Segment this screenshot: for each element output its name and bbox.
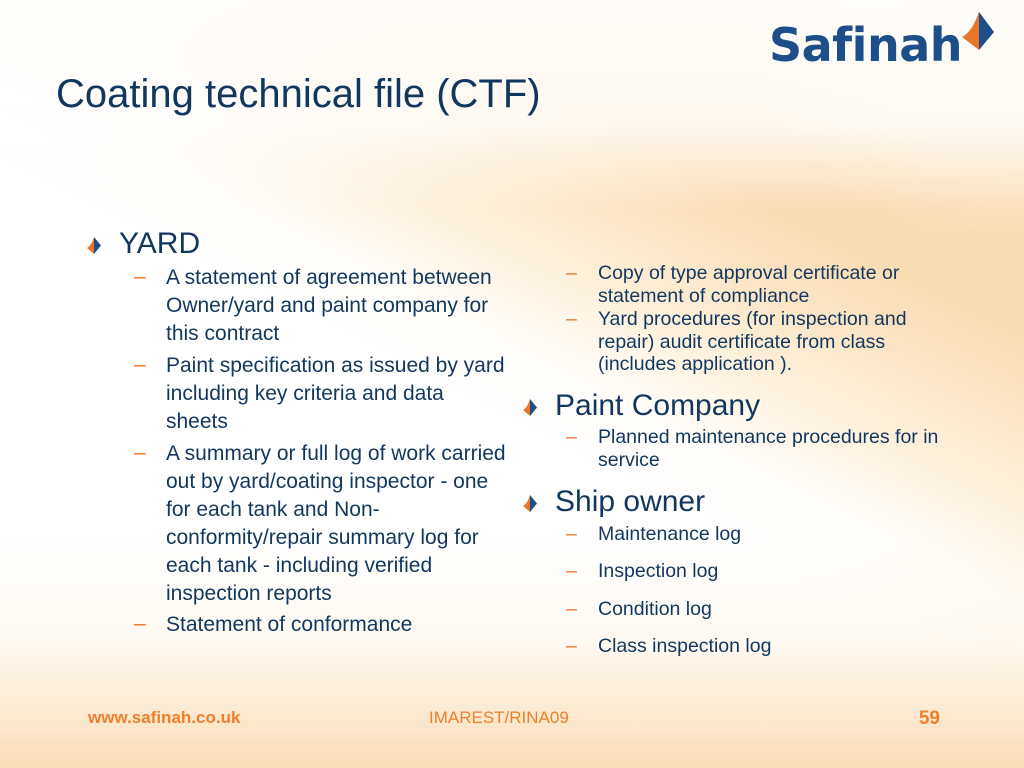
arrow-bullet-icon: [86, 237, 102, 260]
safinah-arrow-mark-icon: [956, 10, 1002, 61]
dash-bullet-icon: –: [566, 597, 582, 622]
group-yard: YARD – A statement of agreement between …: [86, 228, 506, 639]
footer-conference-label: IMAREST/RINA09: [429, 708, 569, 728]
list-item-label: Copy of type approval certificate or sta…: [598, 262, 952, 307]
group-ship-owner: Ship owner – Maintenance log – Inspectio…: [522, 486, 952, 660]
list-item: – Condition log: [566, 597, 952, 622]
list-item-label: Paint specification as issued by yard in…: [166, 352, 506, 436]
arrow-bullet-icon: [522, 399, 538, 422]
heading-yard: YARD: [86, 228, 506, 260]
list-item-label: A summary or full log of work carried ou…: [166, 440, 506, 608]
dash-bullet-icon: –: [134, 264, 150, 291]
page-title: Coating technical file (CTF): [56, 72, 541, 117]
footer-website-link[interactable]: www.safinah.co.uk: [88, 708, 240, 728]
group-paint-company: Paint Company – Planned maintenance proc…: [522, 390, 952, 472]
dash-bullet-icon: –: [566, 426, 582, 449]
safinah-logo: Safinah: [769, 22, 1002, 68]
list-item: – A summary or full log of work carried …: [134, 440, 506, 608]
list-item: – Statement of conformance: [134, 611, 506, 639]
list-item: – Maintenance log: [566, 522, 952, 547]
heading-paint-company: Paint Company: [522, 390, 952, 422]
list-item-label: Maintenance log: [598, 522, 741, 547]
slide: Safinah Coating technical file (CTF) YAR…: [0, 0, 1024, 768]
arrow-bullet-icon: [522, 495, 538, 518]
list-item: – A statement of agreement between Owner…: [134, 264, 506, 348]
dash-bullet-icon: –: [566, 308, 582, 331]
list-item-label: Class inspection log: [598, 634, 771, 659]
heading-label: Ship owner: [555, 486, 705, 518]
list-item-label: Inspection log: [598, 559, 718, 584]
list-item: – Planned maintenance procedures for in …: [566, 426, 952, 471]
group-paint-company-items: – Planned maintenance procedures for in …: [566, 426, 952, 471]
list-item-label: Planned maintenance procedures for in se…: [598, 426, 952, 471]
group-ship-owner-items: – Maintenance log – Inspection log – Con…: [566, 522, 952, 659]
group-yard-continued-items: – Copy of type approval certificate or s…: [566, 262, 952, 376]
dash-bullet-icon: –: [566, 634, 582, 659]
dash-bullet-icon: –: [566, 522, 582, 547]
list-item-label: Statement of conformance: [166, 611, 412, 639]
content-column-right: – Copy of type approval certificate or s…: [522, 262, 952, 671]
heading-ship-owner: Ship owner: [522, 486, 952, 518]
list-item: – Copy of type approval certificate or s…: [566, 262, 952, 307]
dash-bullet-icon: –: [134, 440, 150, 467]
content-column-left: YARD – A statement of agreement between …: [86, 228, 506, 643]
heading-label: Paint Company: [555, 390, 760, 422]
list-item-label: Condition log: [598, 597, 712, 622]
logo-wordmark: Safinah: [769, 22, 962, 68]
group-yard-continued: – Copy of type approval certificate or s…: [522, 262, 952, 376]
list-item: – Yard procedures (for inspection and re…: [566, 308, 952, 376]
dash-bullet-icon: –: [566, 262, 582, 285]
list-item: – Inspection log: [566, 559, 952, 584]
list-item: – Class inspection log: [566, 634, 952, 659]
list-item: – Paint specification as issued by yard …: [134, 352, 506, 436]
dash-bullet-icon: –: [566, 559, 582, 584]
dash-bullet-icon: –: [134, 611, 150, 638]
dash-bullet-icon: –: [134, 352, 150, 379]
heading-label: YARD: [119, 228, 200, 260]
list-item-label: A statement of agreement between Owner/y…: [166, 264, 506, 348]
list-item-label: Yard procedures (for inspection and repa…: [598, 308, 952, 376]
slide-footer: www.safinah.co.uk IMAREST/RINA09 59: [0, 708, 1024, 732]
footer-slide-number: 59: [919, 708, 940, 730]
